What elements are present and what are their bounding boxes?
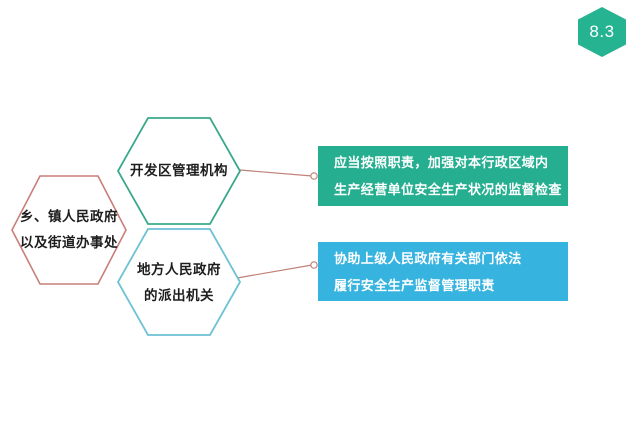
local-government-agency-hex-label: 地方人民政府 的派出机关 [118, 246, 240, 320]
panel-line: 应当按照职责，加强对本行政区域内 [334, 149, 568, 176]
development-zone-hex-label: 开发区管理机构 [118, 149, 240, 193]
hex-label-line: 地方人民政府 [137, 257, 221, 283]
hex-label-line: 开发区管理机构 [130, 158, 228, 184]
hex-label-line: 乡、镇人民政府 [20, 204, 118, 230]
hex-label-line: 的派出机关 [144, 283, 214, 309]
township-government-hex-label: 乡、镇人民政府 以及街道办事处 [12, 193, 126, 267]
panel-line: 生产经营单位安全生产状况的监督检查 [334, 176, 568, 203]
assist-supervision-panel[interactable]: 协助上级人民政府有关部门依法 履行安全生产监督管理职责 [318, 242, 568, 301]
diagram-canvas: 8.3 乡、镇人民政府 以及街道办事处 开发区管理机构 地方人民政府 的派出机关… [0, 0, 640, 443]
panel-line: 履行安全生产监督管理职责 [334, 272, 568, 299]
duty-supervision-panel[interactable]: 应当按照职责，加强对本行政区域内 生产经营单位安全生产状况的监督检查 [318, 146, 568, 206]
panel-line: 协助上级人民政府有关部门依法 [334, 245, 568, 272]
hex-label-line: 以及街道办事处 [20, 230, 118, 256]
